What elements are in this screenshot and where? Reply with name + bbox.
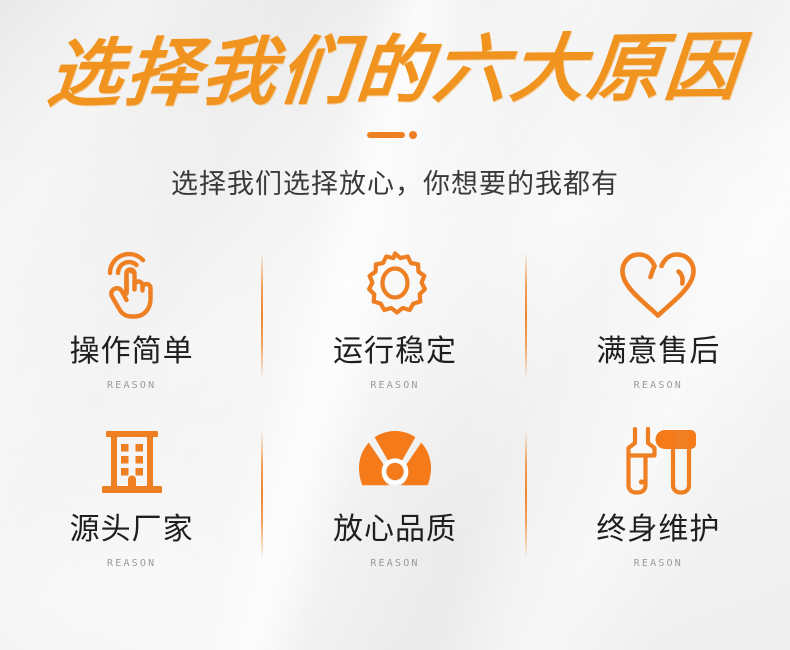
divider-dot xyxy=(409,131,417,139)
banner-header: 选择我们的六大原因 选择我们选择放心，你想要的我都有 xyxy=(0,0,790,201)
reason-caption: REASON xyxy=(370,558,419,569)
reason-caption: REASON xyxy=(634,380,683,391)
reason-label: 运行稳定 xyxy=(333,335,457,368)
reason-item-2: 运行稳定 REASON xyxy=(263,237,526,415)
page-title: 选择我们的六大原因 xyxy=(0,30,790,112)
page-subtitle: 选择我们选择放心，你想要的我都有 xyxy=(0,162,790,201)
reason-caption: REASON xyxy=(634,558,683,569)
reason-label: 终身维护 xyxy=(596,513,720,546)
dash-dot-divider-icon xyxy=(367,130,423,140)
reason-item-5: 放心品质 REASON xyxy=(263,415,526,593)
heart-icon xyxy=(616,247,700,323)
reason-label: 放心品质 xyxy=(333,513,457,546)
promo-banner: 选择我们的六大原因 选择我们选择放心，你想要的我都有 xyxy=(0,0,790,650)
reason-item-1: 操作简单 REASON xyxy=(0,237,263,415)
reasons-grid: 操作简单 REASON 运行稳定 REASON xyxy=(0,237,790,593)
reason-caption: REASON xyxy=(370,380,419,391)
reason-caption: REASON xyxy=(107,380,156,391)
divider-bar xyxy=(367,132,405,138)
reason-item-4: 源头厂家 REASON xyxy=(0,415,263,593)
touch-tap-hand-icon xyxy=(96,247,168,323)
reason-item-6: 终身维护 REASON xyxy=(527,415,790,593)
reason-label: 操作简单 xyxy=(70,335,194,368)
reason-label: 源头厂家 xyxy=(70,513,194,546)
factory-building-icon xyxy=(94,425,170,501)
reason-label: 满意售后 xyxy=(596,335,720,368)
reason-item-3: 满意售后 REASON xyxy=(527,237,790,415)
reason-caption: REASON xyxy=(107,558,156,569)
wrench-hammer-icon xyxy=(613,425,703,501)
gear-icon xyxy=(357,247,433,323)
radiation-trefoil-icon xyxy=(355,425,435,501)
